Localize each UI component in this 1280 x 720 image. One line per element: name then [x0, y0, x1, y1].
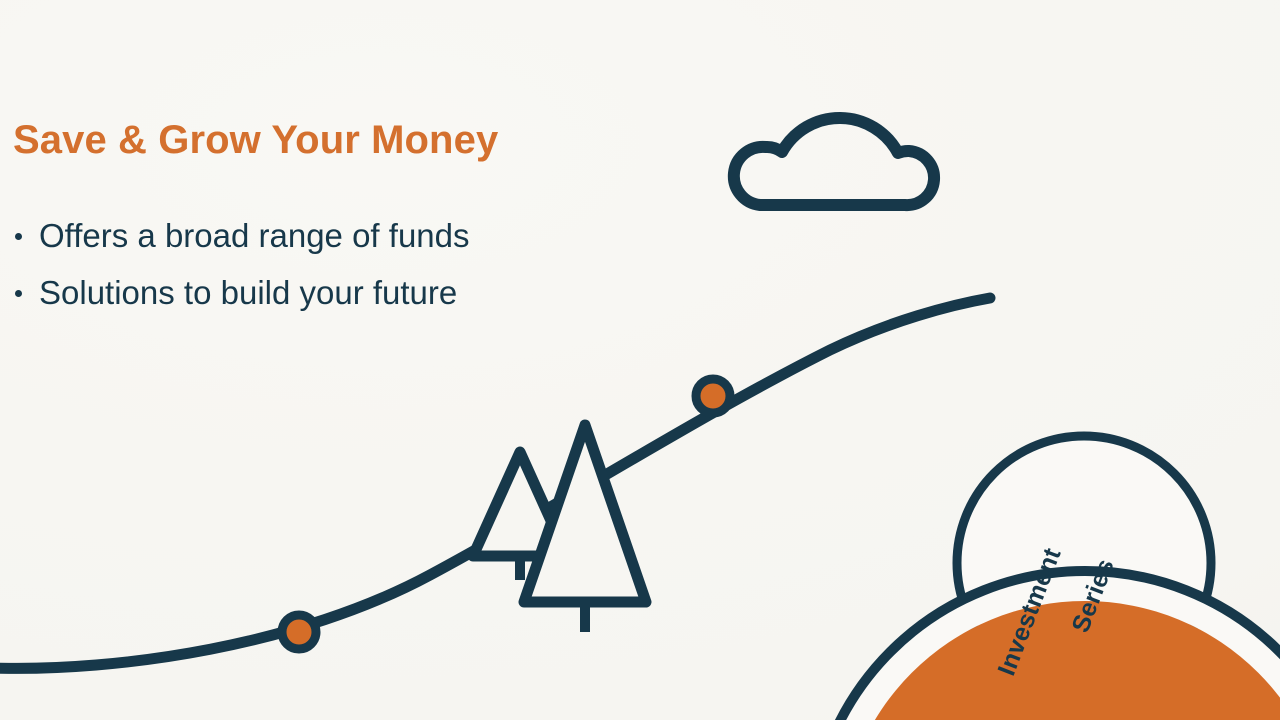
bullet-list: Offers a broad range of funds Solutions … [13, 208, 653, 322]
bullet-dot-icon [15, 290, 22, 297]
slide-text-block: Save & Grow Your Money Offers a broad ra… [13, 118, 653, 322]
growth-curve-line [0, 298, 990, 668]
curve-marker-lower [282, 615, 316, 649]
bullet-text-2: Solutions to build your future [39, 274, 457, 311]
presentation-slide: Save & Grow Your Money Offers a broad ra… [0, 0, 1280, 720]
bullet-text-1: Offers a broad range of funds [39, 217, 470, 254]
bullet-dot-icon [15, 233, 22, 240]
curve-marker-upper [696, 379, 730, 413]
cloud-icon [734, 118, 934, 205]
bullet-item-1: Offers a broad range of funds [13, 208, 653, 265]
slide-title: Save & Grow Your Money [13, 118, 653, 162]
bullet-item-2: Solutions to build your future [13, 265, 653, 322]
